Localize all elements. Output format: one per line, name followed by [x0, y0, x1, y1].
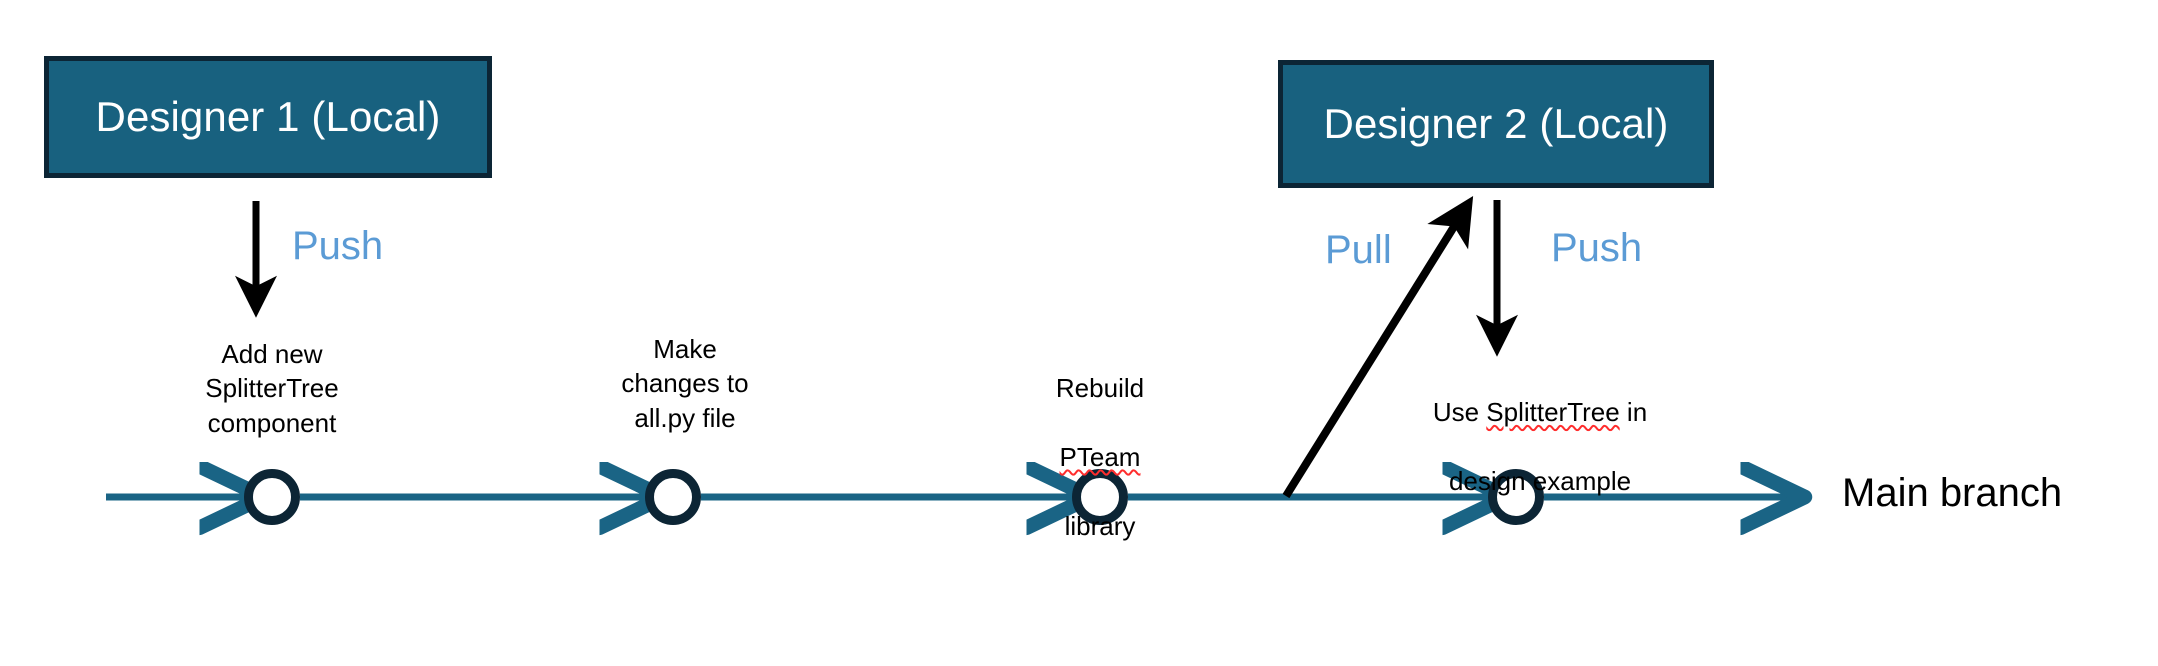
commit-caption-3-line-1-post: in: [1620, 397, 1647, 427]
commit-caption-1: Make changes to all.py file: [570, 332, 800, 435]
commit-caption-2-line-2: PTeam: [1060, 442, 1141, 472]
commit-node-1[interactable]: [650, 474, 697, 521]
commit-caption-3-line-2: design example: [1449, 466, 1631, 496]
actor-label-designer-1: Designer 1 (Local): [96, 94, 441, 140]
actor-label-designer-2: Designer 2 (Local): [1324, 101, 1669, 147]
commit-caption-2: Rebuild PTeam library: [990, 337, 1210, 543]
commit-caption-3: Use SplitterTree in design example: [1380, 361, 1700, 498]
actor-box-designer-2[interactable]: Designer 2 (Local): [1278, 60, 1714, 188]
commit-caption-0: Add new SplitterTree component: [132, 337, 412, 440]
flow-label-push-designer-1: Push: [292, 226, 383, 266]
commit-node-0[interactable]: [249, 474, 296, 521]
commit-caption-2-line-1: Rebuild: [1056, 373, 1144, 403]
commit-caption-3-line-1-pre: Use: [1433, 397, 1486, 427]
flow-label-push-designer-2: Push: [1551, 228, 1642, 268]
actor-box-designer-1[interactable]: Designer 1 (Local): [44, 56, 492, 178]
diagram-canvas: Designer 1 (Local) Designer 2 (Local) Pu…: [0, 0, 2158, 666]
flow-label-pull-designer-2: Pull: [1325, 230, 1392, 270]
main-branch-label: Main branch: [1842, 473, 2062, 513]
commit-caption-2-line-3: library: [1065, 511, 1136, 541]
commit-caption-3-line-1-misspelled: SplitterTree: [1486, 397, 1619, 427]
